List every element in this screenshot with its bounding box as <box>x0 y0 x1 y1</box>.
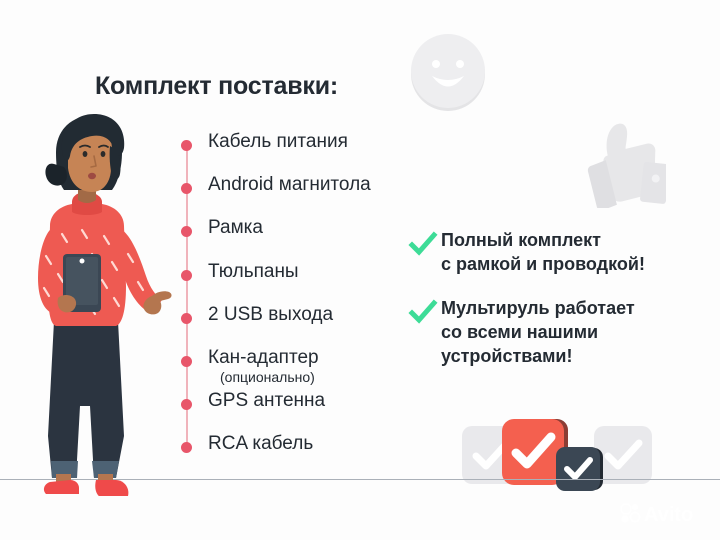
list-item-label: GPS антенна <box>208 390 325 412</box>
list-item: GPS антенна <box>178 387 428 430</box>
checkbox-cards-icon <box>462 414 652 494</box>
check-icon <box>408 230 438 260</box>
check-icon <box>502 419 564 485</box>
list-item-label: Кан-адаптер <box>208 347 319 369</box>
feature-text: Полный комплект с рамкой и проводкой! <box>441 228 645 276</box>
list-item-label: Рамка <box>208 217 263 239</box>
avito-wordmark: Avito <box>644 504 693 526</box>
check-icon <box>556 447 600 491</box>
list-item: Кан-адаптер (опционально) <box>178 344 428 387</box>
bullet-dot-icon <box>181 140 192 151</box>
check-icon <box>408 298 438 328</box>
list-item-label: Кабель питания <box>208 131 348 153</box>
smiley-face-icon <box>407 31 489 113</box>
bullet-dot-icon <box>181 270 192 281</box>
bullet-dot-icon <box>181 183 192 194</box>
list-item: Android магнитола <box>178 171 428 214</box>
promo-image-canvas: Комплект поставки: Кабель питания Androi… <box>0 0 720 540</box>
list-item: RCA кабель <box>178 430 428 473</box>
bullet-dot-icon <box>181 399 192 410</box>
avito-watermark: Avito <box>617 500 703 526</box>
bullet-dot-icon <box>181 356 192 367</box>
bullet-dot-icon <box>181 226 192 237</box>
bullet-dot-icon <box>181 313 192 324</box>
contents-list: Кабель питания Android магнитола Рамка Т… <box>178 128 428 474</box>
list-item: 2 USB выхода <box>178 301 428 344</box>
list-item-label: 2 USB выхода <box>208 304 333 326</box>
page-title: Комплект поставки: <box>95 72 338 101</box>
feature-text: Мультируль работает со всеми нашими устр… <box>441 296 635 368</box>
thumbs-up-icon <box>580 118 666 208</box>
woman-illustration <box>6 106 176 496</box>
list-item-label: Android магнитола <box>208 174 371 196</box>
list-item-sublabel: (опционально) <box>220 369 315 385</box>
bullet-dot-icon <box>181 442 192 453</box>
list-item: Рамка <box>178 214 428 257</box>
list-item: Тюльпаны <box>178 258 428 301</box>
list-item: Кабель питания <box>178 128 428 171</box>
list-item-label: RCA кабель <box>208 433 313 455</box>
list-item-label: Тюльпаны <box>208 261 299 283</box>
